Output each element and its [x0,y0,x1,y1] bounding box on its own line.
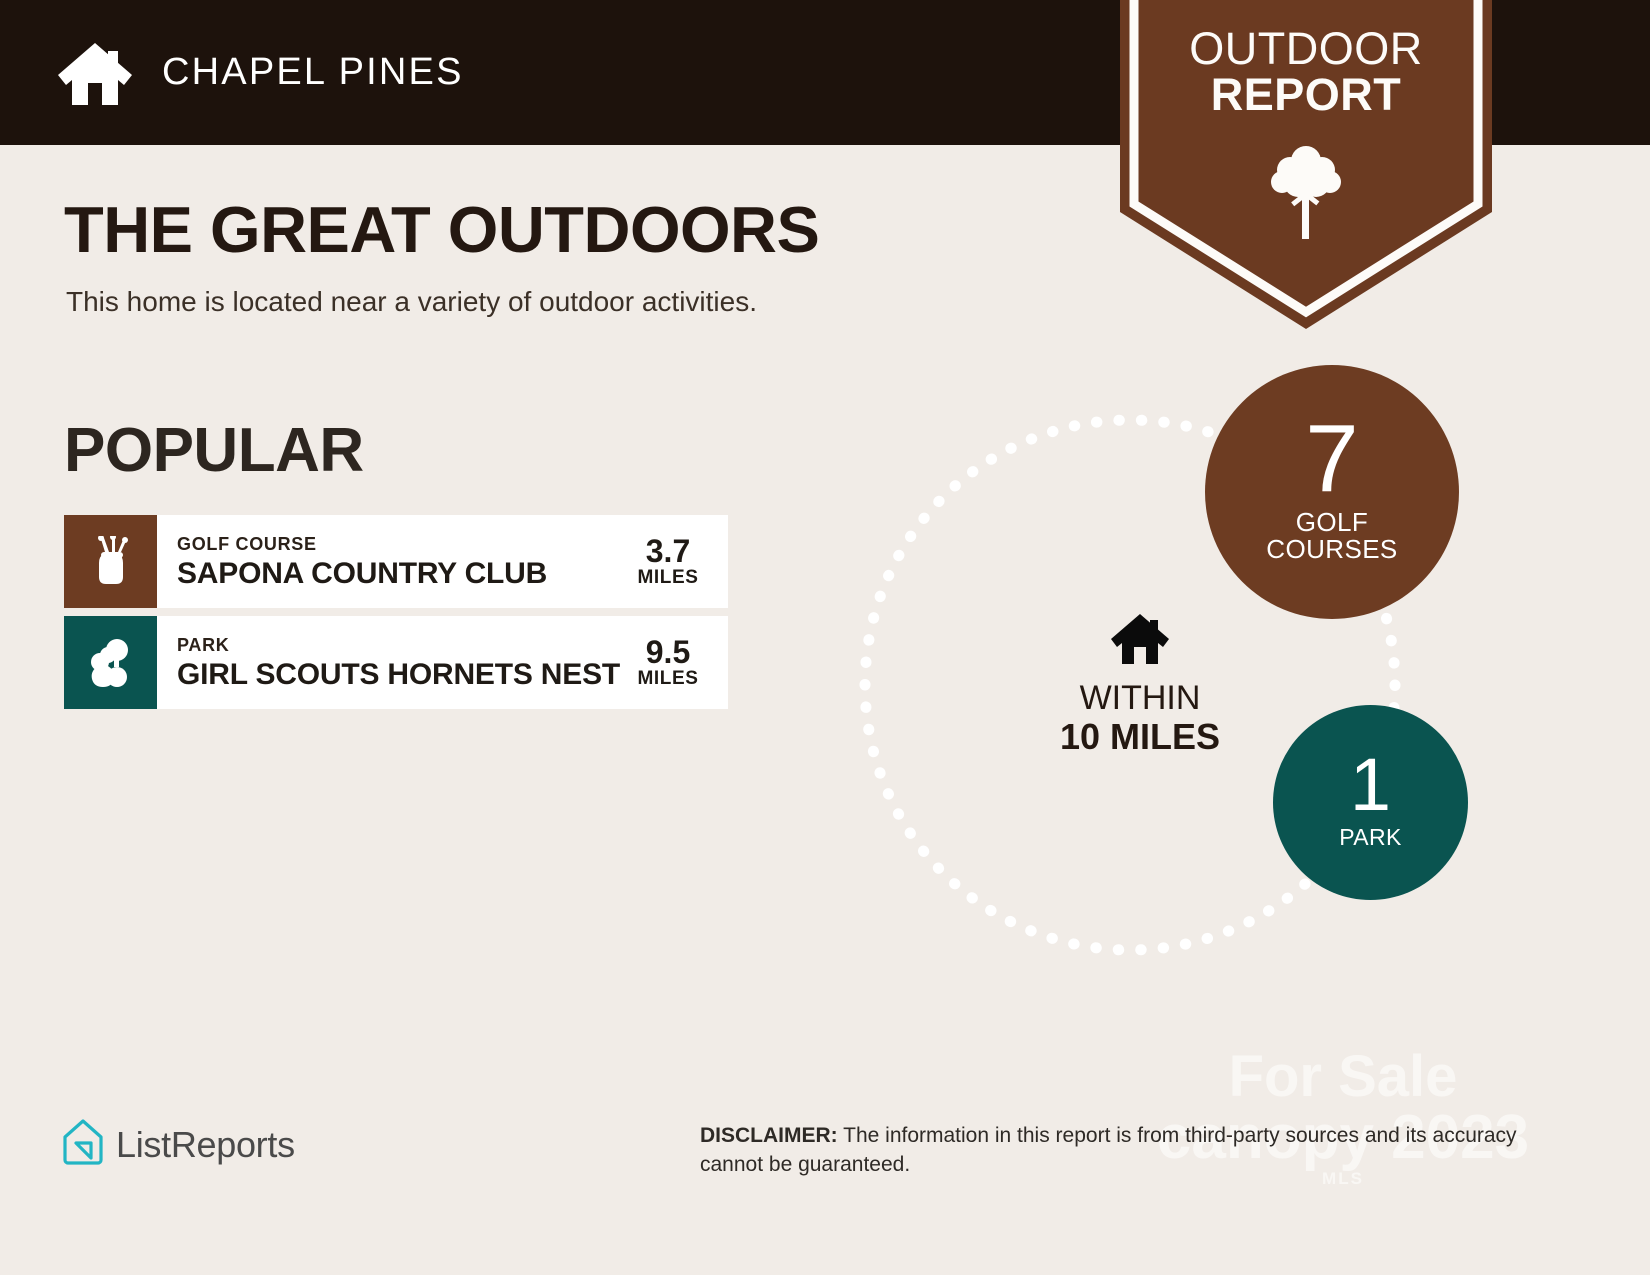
park-trees-icon [64,616,157,709]
badge-line-2: REPORT [1120,72,1492,118]
badge-title: OUTDOOR REPORT [1120,26,1492,118]
outdoor-report-page: CHAPEL PINES OUTDOOR REPORT [0,0,1650,1275]
list-item-name: SAPONA COUNTRY CLUB [177,558,628,590]
list-item-body: PARK GIRL SCOUTS HORNETS NEST 9.5 MILES [157,616,728,709]
bubble-label: GOLF COURSES [1266,509,1397,564]
distance-value: 9.5 [628,636,708,668]
tree-icon [1120,139,1492,248]
popular-heading: POPULAR [64,415,364,486]
distance-unit: MILES [628,567,708,589]
list-item-body: GOLF COURSE SAPONA COUNTRY CLUB 3.7 MILE… [157,515,728,608]
radius-diagram: 7 GOLF COURSES 1 PARK WITHIN 10 MILES [830,380,1530,1000]
list-item-distance: 3.7 MILES [628,535,720,589]
bubble-count: 1 [1350,751,1391,819]
listreports-logo[interactable]: ListReports [62,1118,295,1171]
list-item-category: PARK [177,634,628,657]
disclaimer: DISCLAIMER: The information in this repo… [700,1122,1520,1180]
outdoor-report-badge: OUTDOOR REPORT [1120,0,1492,329]
home-icon [1109,655,1171,672]
bubble-label: PARK [1339,825,1402,849]
disclaimer-label: DISCLAIMER: [700,1124,838,1147]
listreports-wordmark: ListReports [116,1124,295,1166]
distance-value: 3.7 [628,535,708,567]
list-item-name: GIRL SCOUTS HORNETS NEST [177,659,628,691]
bubble-parks: 1 PARK [1273,705,1468,900]
listreports-house-icon [62,1118,104,1171]
page-subtitle: This home is located near a variety of o… [66,286,757,318]
bubble-golf-courses: 7 GOLF COURSES [1205,365,1459,619]
bubble-label-line-2: COURSES [1266,536,1397,563]
radius-center-marker: WITHIN 10 MILES [1020,610,1260,757]
home-icon [56,37,134,109]
watermark-line-1: For Sale [1128,1048,1558,1106]
popular-list: GOLF COURSE SAPONA COUNTRY CLUB 3.7 MILE… [64,515,728,717]
distance-unit: MILES [628,668,708,690]
bubble-count: 7 [1305,415,1358,503]
page-title: THE GREAT OUTDOORS [64,192,819,267]
radius-line-1: WITHIN [1020,679,1260,717]
list-item-category: GOLF COURSE [177,533,628,556]
list-item[interactable]: GOLF COURSE SAPONA COUNTRY CLUB 3.7 MILE… [64,515,728,608]
golf-bag-icon [64,515,157,608]
list-item[interactable]: PARK GIRL SCOUTS HORNETS NEST 9.5 MILES [64,616,728,709]
radius-line-2: 10 MILES [1020,717,1260,757]
list-item-distance: 9.5 MILES [628,636,720,690]
bubble-label-line-1: GOLF [1266,509,1397,536]
badge-line-1: OUTDOOR [1120,26,1492,72]
community-name: CHAPEL PINES [162,51,464,94]
